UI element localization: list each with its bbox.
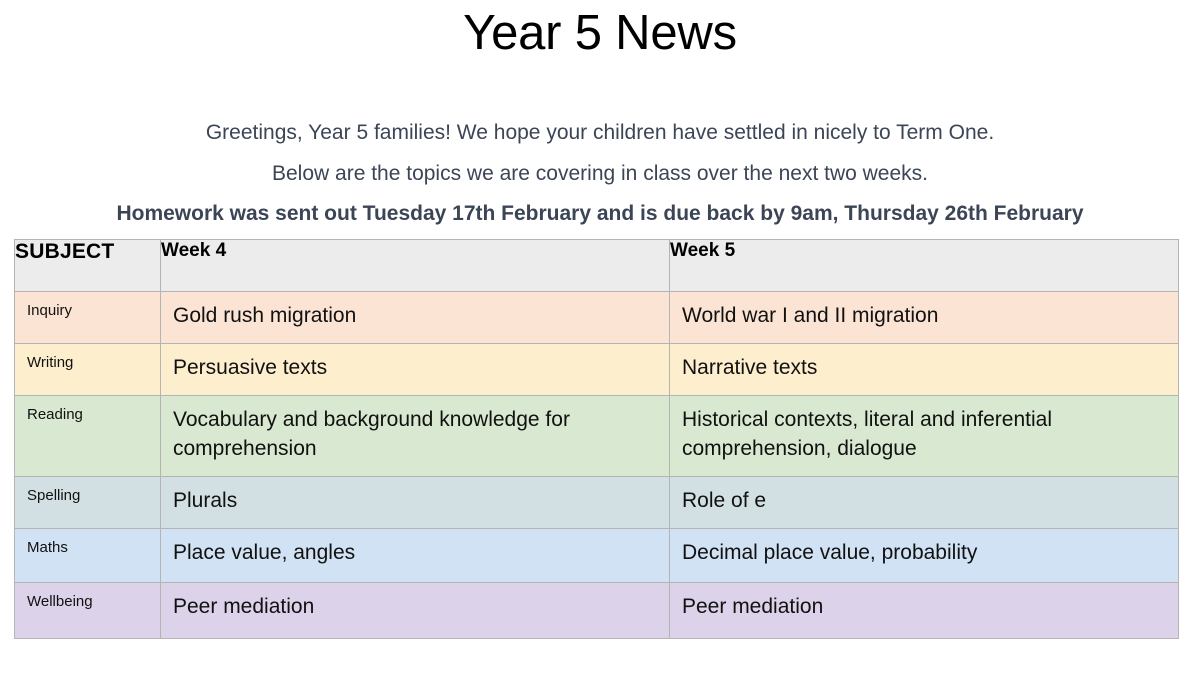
topic-writing-week4: Persuasive texts xyxy=(161,344,670,396)
table-body: Inquiry Gold rush migration World war I … xyxy=(15,292,1179,639)
topic-wellbeing-week4: Peer mediation xyxy=(161,583,670,639)
topic-maths-week4: Place value, angles xyxy=(161,529,670,583)
subject-label-spelling: Spelling xyxy=(15,477,161,529)
topic-spelling-week4: Plurals xyxy=(161,477,670,529)
newsletter-page: Year 5 News Greetings, Year 5 families! … xyxy=(0,0,1200,675)
topic-maths-week5: Decimal place value, probability xyxy=(670,529,1179,583)
table-row: Spelling Plurals Role of e xyxy=(15,477,1179,529)
column-header-week4: Week 4 xyxy=(161,240,670,292)
table-row: Reading Vocabulary and background knowle… xyxy=(15,396,1179,477)
homework-notice: Homework was sent out Tuesday 17th Febru… xyxy=(0,194,1200,234)
subject-label-writing: Writing xyxy=(15,344,161,396)
subject-label-inquiry: Inquiry xyxy=(15,292,161,344)
table-header-row: SUBJECT Week 4 Week 5 xyxy=(15,240,1179,292)
topic-writing-week5: Narrative texts xyxy=(670,344,1179,396)
intro-line-2: Below are the topics we are covering in … xyxy=(0,153,1200,194)
column-header-week5: Week 5 xyxy=(670,240,1179,292)
subject-label-maths: Maths xyxy=(15,529,161,583)
intro-block: Greetings, Year 5 families! We hope your… xyxy=(0,112,1200,234)
table-head: SUBJECT Week 4 Week 5 xyxy=(15,240,1179,292)
intro-line-1: Greetings, Year 5 families! We hope your… xyxy=(0,112,1200,153)
topic-inquiry-week4: Gold rush migration xyxy=(161,292,670,344)
topic-spelling-week5: Role of e xyxy=(670,477,1179,529)
topic-wellbeing-week5: Peer mediation xyxy=(670,583,1179,639)
table-row: Writing Persuasive texts Narrative texts xyxy=(15,344,1179,396)
table-row: Wellbeing Peer mediation Peer mediation xyxy=(15,583,1179,639)
page-title: Year 5 News xyxy=(0,2,1200,64)
topic-reading-week5: Historical contexts, literal and inferen… xyxy=(670,396,1179,477)
topic-reading-week4: Vocabulary and background knowledge for … xyxy=(161,396,670,477)
column-header-subject: SUBJECT xyxy=(15,240,161,292)
topics-table: SUBJECT Week 4 Week 5 Inquiry Gold rush … xyxy=(14,239,1179,639)
subject-label-reading: Reading xyxy=(15,396,161,477)
table-row: Maths Place value, angles Decimal place … xyxy=(15,529,1179,583)
topic-inquiry-week5: World war I and II migration xyxy=(670,292,1179,344)
subject-label-wellbeing: Wellbeing xyxy=(15,583,161,639)
table-row: Inquiry Gold rush migration World war I … xyxy=(15,292,1179,344)
